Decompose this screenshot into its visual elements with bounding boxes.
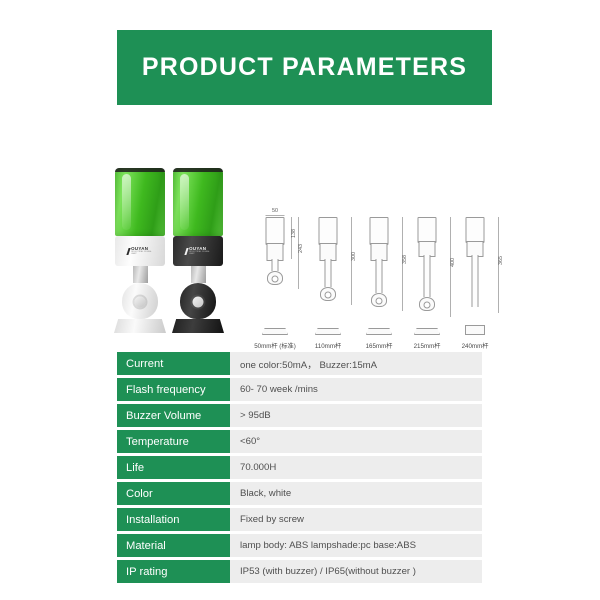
spec-value-life: 70.000H [230,456,482,479]
width-dimension-label: 50 [272,208,278,214]
spec-value-material: lamp body: ABS lampshade:pc base:ABS [230,534,482,557]
drawing-joint [320,287,336,301]
table-row: Buzzer Volume > 95dB [117,404,482,427]
drawing-base [366,328,392,335]
table-row: Current one color:50mA， Buzzer:15mA [117,352,482,375]
drawing-joint [419,297,435,311]
lampshade-green [115,168,165,236]
table-row: Life 70.000H [117,456,482,479]
drawing-lampshade [319,217,338,245]
black-tower-light-photo: OUYAN INDUSTRIAL SIGNAL LAMP [172,168,224,333]
drawing-lampshade [418,217,437,243]
drawing-lampshade [370,217,389,245]
drawing-caption: 240mm杆 [462,341,489,350]
brand-tagline: INDUSTRIAL SIGNAL LAMP [189,252,210,256]
height-dimension-300: 300 [351,217,352,305]
spec-value-flash-frequency: 60- 70 week /mins [230,378,482,401]
spec-table: Current one color:50mA， Buzzer:15mA Flas… [117,352,482,586]
spec-value-installation: Fixed by screw [230,508,482,531]
drawing-pole [325,259,332,287]
height-dimension-400: 400 [450,217,451,317]
table-row: Color Black, white [117,482,482,505]
drawing-pole [272,259,279,271]
spec-label-installation: Installation [117,508,230,531]
spec-value-ip-rating: IP53 (with buzzer) / IP65(without buzzer… [230,560,482,583]
lampshade-green [173,168,223,236]
lamp-neck [191,266,206,283]
spec-value-temperature: <60° [230,430,482,453]
lamp-base-white [114,319,166,333]
width-dimension-line [266,215,285,216]
drawing-pole [472,255,479,307]
height-dimension-label: 243 [298,244,304,253]
drawing-110mm: 300 110mm杆 [305,217,351,335]
lamp-joint-white [122,283,158,319]
product-photo-group: OUYAN INDUSTRIAL SIGNAL LAMP OUYAN INDUS… [110,128,245,333]
drawing-lampshade [266,217,285,245]
lamp-joint-black [180,283,216,319]
drawing-240mm: 365 240mm杆 [452,217,498,335]
drawing-caption: 215mm杆 [414,341,441,350]
white-tower-light-photo: OUYAN INDUSTRIAL SIGNAL LAMP [114,168,166,333]
lamp-neck [133,266,148,283]
spec-label-current: Current [117,352,230,375]
spec-label-buzzer-volume: Buzzer Volume [117,404,230,427]
spec-label-material: Material [117,534,230,557]
drawing-base [414,328,440,335]
height-dimension-365: 365 [498,217,499,313]
spec-value-current: one color:50mA， Buzzer:15mA [230,352,482,375]
drawing-215mm: 400 215mm杆 [404,217,450,335]
drawing-caption: 110mm杆 [315,341,341,350]
spec-value-buzzer-volume: > 95dB [230,404,482,427]
spec-label-color: Color [117,482,230,505]
height-dimension-label: 138 [291,229,297,238]
table-row: IP rating IP53 (with buzzer) / IP65(with… [117,560,482,583]
height-dimension-358: 358 [402,217,403,311]
height-dimension-label: 365 [498,256,504,265]
table-row: Installation Fixed by screw [117,508,482,531]
height-dimension-138: 138 [291,217,292,259]
drawing-lampshade [466,217,485,243]
spec-label-life: Life [117,456,230,479]
spec-label-temperature: Temperature [117,430,230,453]
drawing-pole [424,255,431,297]
shade-highlight [122,174,131,230]
spec-label-ip-rating: IP rating [117,560,230,583]
brand-tagline: INDUSTRIAL SIGNAL LAMP [131,252,152,256]
product-parameters-page: PRODUCT PARAMETERS OUYAN INDUSTRIAL SIGN… [0,0,600,600]
table-row: Temperature <60° [117,430,482,453]
drawing-base [262,328,288,335]
spec-value-color: Black, white [230,482,482,505]
brand-logo: OUYAN INDUSTRIAL SIGNAL LAMP [186,247,211,256]
drawing-base [465,325,485,335]
lamp-body-black: OUYAN INDUSTRIAL SIGNAL LAMP [173,236,223,266]
table-row: Flash frequency 60- 70 week /mins [117,378,482,401]
height-dimension-243: 243 [298,217,299,289]
page-title: PRODUCT PARAMETERS [142,53,467,82]
logo-mark-icon [184,248,188,255]
drawing-caption: 50mm杆 (标准) [254,341,296,350]
logo-mark-icon [126,248,130,255]
shade-highlight [180,174,189,230]
drawing-joint [267,271,283,285]
drawing-joint [371,293,387,307]
drawing-caption: 165mm杆 [366,341,393,350]
technical-drawing-group: 50 138 243 50mm杆 (标准) [252,190,492,335]
header-banner: PRODUCT PARAMETERS [117,30,492,105]
table-row: Material lamp body: ABS lampshade:pc bas… [117,534,482,557]
spec-label-flash-frequency: Flash frequency [117,378,230,401]
drawing-pole [376,259,383,293]
drawing-50mm: 50 138 243 50mm杆 (标准) [252,217,298,335]
lamp-base-black [172,319,224,333]
lamp-body-white: OUYAN INDUSTRIAL SIGNAL LAMP [115,236,165,266]
drawing-base [315,328,341,335]
brand-logo: OUYAN INDUSTRIAL SIGNAL LAMP [128,247,153,256]
drawing-165mm: 358 165mm杆 [356,217,402,335]
